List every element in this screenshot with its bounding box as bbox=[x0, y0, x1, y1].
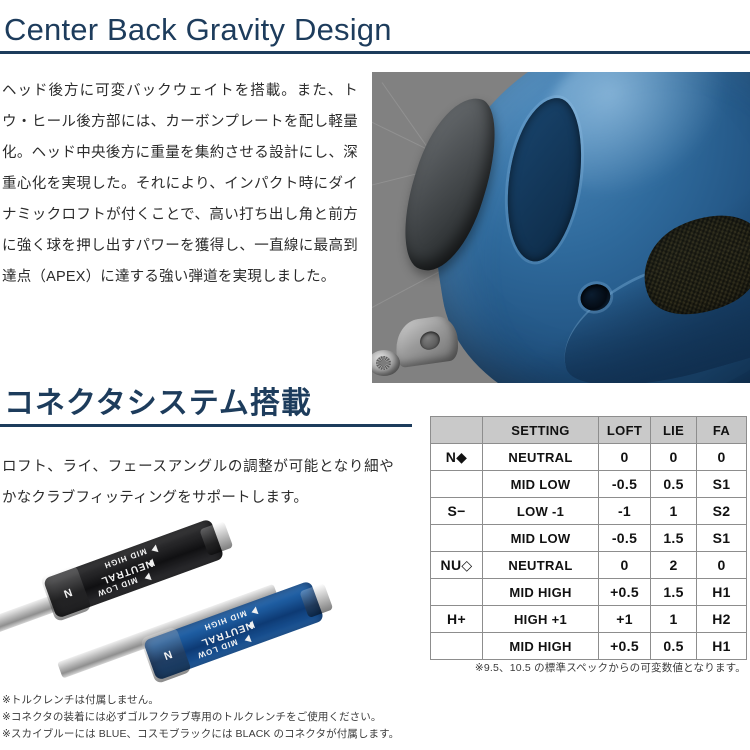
cell-key: H+ bbox=[431, 606, 483, 633]
section-heading-gravity: Center Back Gravity Design bbox=[0, 14, 750, 54]
cell-fa: H2 bbox=[697, 606, 747, 633]
connector-sleeve-blue: N NEUTRAL MID HIGH MID LOW bbox=[143, 580, 325, 680]
setting-spec-table: SETTING LOFT LIE FA N◆NEUTRAL000MID LOW-… bbox=[430, 416, 747, 660]
sleeve-tip bbox=[299, 583, 333, 618]
gravity-description: ヘッド後方に可変バックウェイトを搭載。また、トウ・ヒール後方部には、カーボンプレ… bbox=[2, 76, 358, 293]
connector-description: ロフト、ライ、フェースアングルの調整が可能となり細やかなクラブフィッティングをサ… bbox=[2, 452, 394, 514]
cell-loft: -0.5 bbox=[599, 525, 651, 552]
col-header-loft: LOFT bbox=[599, 417, 651, 444]
driver-head-photo bbox=[372, 72, 750, 383]
cell-lie: 1 bbox=[651, 606, 697, 633]
col-header-lie: LIE bbox=[651, 417, 697, 444]
sleeve-arrow-icon bbox=[150, 545, 158, 555]
col-header-key bbox=[431, 417, 483, 444]
cell-loft: -1 bbox=[599, 498, 651, 525]
cell-setting: MID HIGH bbox=[483, 633, 599, 660]
product-info-page: Center Back Gravity Design ヘッド後方に可変バックウェ… bbox=[0, 0, 750, 750]
cell-loft: +1 bbox=[599, 606, 651, 633]
connector-title: コネクタシステム搭載 bbox=[0, 388, 750, 420]
cell-setting: LOW -1 bbox=[483, 498, 599, 525]
cell-key: NU◇ bbox=[431, 552, 483, 579]
table-row: MID LOW-0.51.5S1 bbox=[431, 525, 747, 552]
cell-key bbox=[431, 525, 483, 552]
table-row: S−LOW -1-11S2 bbox=[431, 498, 747, 525]
cell-fa: H1 bbox=[697, 633, 747, 660]
cell-setting: MID LOW bbox=[483, 525, 599, 552]
footnote-item: ※コネクタの装着には必ずゴルフクラブ専用のトルクレンチをご使用ください。 bbox=[2, 709, 442, 726]
cell-lie: 2 bbox=[651, 552, 697, 579]
cell-loft: 0 bbox=[599, 444, 651, 471]
page-title: Center Back Gravity Design bbox=[0, 14, 750, 47]
cell-lie: 0 bbox=[651, 444, 697, 471]
cell-loft: +0.5 bbox=[599, 579, 651, 606]
cell-lie: 1.5 bbox=[651, 525, 697, 552]
cell-fa: 0 bbox=[697, 444, 747, 471]
cell-loft: 0 bbox=[599, 552, 651, 579]
heading-rule bbox=[0, 51, 750, 54]
sleeve-arrow-icon bbox=[250, 607, 258, 617]
cell-fa: S1 bbox=[697, 525, 747, 552]
cell-loft: -0.5 bbox=[599, 471, 651, 498]
spec-table-wrap: SETTING LOFT LIE FA N◆NEUTRAL000MID LOW-… bbox=[430, 416, 746, 660]
table-header-row: SETTING LOFT LIE FA bbox=[431, 417, 747, 444]
cell-setting: MID HIGH bbox=[483, 579, 599, 606]
sleeve-tip bbox=[199, 521, 233, 556]
table-row: H+HIGH +1+11H2 bbox=[431, 606, 747, 633]
cell-fa: 0 bbox=[697, 552, 747, 579]
table-row: NU◇NEUTRAL020 bbox=[431, 552, 747, 579]
footnote-list: ※トルクレンチは付属しません。 ※コネクタの装着には必ずゴルフクラブ専用のトルク… bbox=[2, 692, 442, 743]
connector-sleeve-black: N NEUTRAL MID HIGH MID LOW bbox=[43, 518, 225, 618]
cell-key: S− bbox=[431, 498, 483, 525]
cell-key bbox=[431, 633, 483, 660]
cell-key bbox=[431, 471, 483, 498]
table-row: MID LOW-0.50.5S1 bbox=[431, 471, 747, 498]
sleeve-arrow-icon bbox=[143, 573, 151, 583]
cell-setting: MID LOW bbox=[483, 471, 599, 498]
cell-lie: 0.5 bbox=[651, 633, 697, 660]
spec-table-body: N◆NEUTRAL000MID LOW-0.50.5S1S−LOW -1-11S… bbox=[431, 444, 747, 660]
col-header-setting: SETTING bbox=[483, 417, 599, 444]
cell-fa: S2 bbox=[697, 498, 747, 525]
connector-sleeves-photo: N NEUTRAL MID HIGH MID LOW N NEUTRAL MID… bbox=[0, 512, 420, 690]
sleeve-arrow-icon bbox=[243, 635, 251, 645]
cell-fa: S1 bbox=[697, 471, 747, 498]
table-row: N◆NEUTRAL000 bbox=[431, 444, 747, 471]
footnote-item: ※スカイブルーには BLUE、コスモブラックには BLACK のコネクタが付属し… bbox=[2, 726, 442, 743]
spec-table-note: ※9.5、10.5 の標準スペックからの可変数値となります。 bbox=[430, 660, 746, 675]
table-row: MID HIGH+0.51.5H1 bbox=[431, 579, 747, 606]
cell-setting: HIGH +1 bbox=[483, 606, 599, 633]
cell-lie: 0.5 bbox=[651, 471, 697, 498]
cell-setting: NEUTRAL bbox=[483, 552, 599, 579]
footnote-item: ※トルクレンチは付属しません。 bbox=[2, 692, 442, 709]
col-header-fa: FA bbox=[697, 417, 747, 444]
cell-lie: 1 bbox=[651, 498, 697, 525]
heading-rule-2 bbox=[0, 424, 412, 427]
cell-key bbox=[431, 579, 483, 606]
cell-loft: +0.5 bbox=[599, 633, 651, 660]
cell-setting: NEUTRAL bbox=[483, 444, 599, 471]
cell-lie: 1.5 bbox=[651, 579, 697, 606]
cell-fa: H1 bbox=[697, 579, 747, 606]
table-row: MID HIGH+0.50.5H1 bbox=[431, 633, 747, 660]
cell-key: N◆ bbox=[431, 444, 483, 471]
